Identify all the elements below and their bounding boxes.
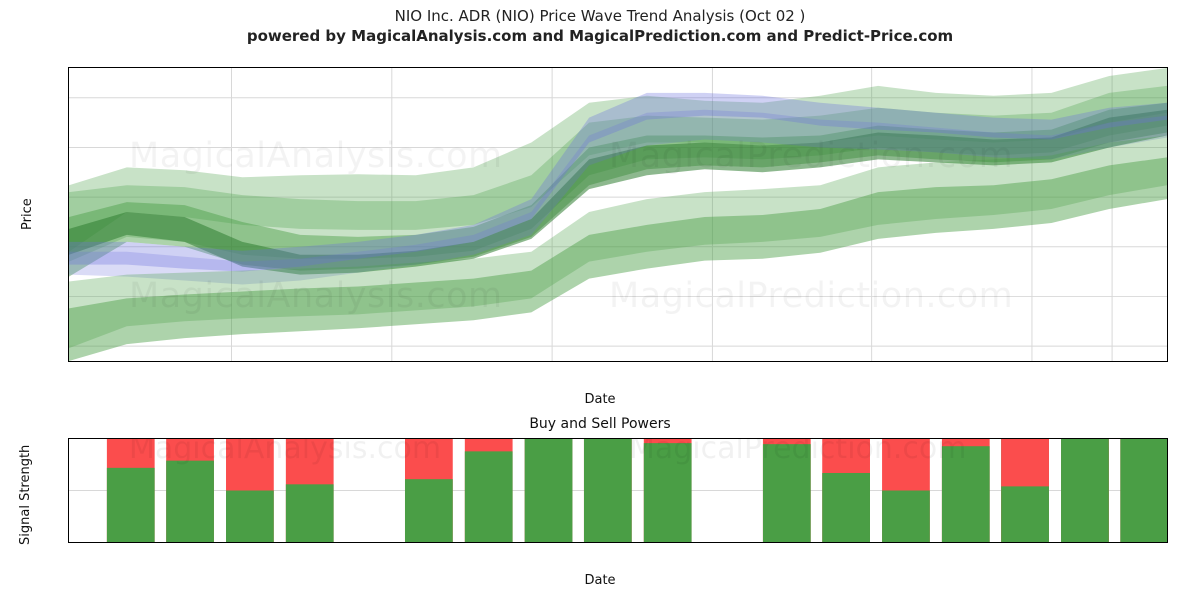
screenshot-root: NIO Inc. ADR (NIO) Price Wave Trend Anal… [0,0,1200,600]
chart-title-block: NIO Inc. ADR (NIO) Price Wave Trend Anal… [0,6,1200,46]
buy-power-bar [1001,486,1049,542]
buy-power-bar [942,446,990,542]
buy-power-bar [286,484,334,542]
signal-xtick-mark [1113,542,1114,543]
page-title: NIO Inc. ADR (NIO) Price Wave Trend Anal… [0,6,1200,26]
price-ytick-mark [68,97,69,98]
price-axis-label: Price [20,198,35,230]
price-ytick-mark [68,147,69,148]
price-xtick-mark [872,361,873,362]
buy-sell-bars [69,439,1167,542]
buy-power-bar [584,439,632,542]
signal-xtick-mark [713,542,714,543]
price-xtick-mark [713,361,714,362]
price-xtick-mark [1113,361,1114,362]
signal-xtick-mark [552,542,553,543]
buy-power-bar [763,444,811,542]
buy-power-bar [1061,439,1109,542]
signal-xtick-mark [1033,542,1034,543]
lower-date-axis-label: Date [584,573,615,588]
buy-power-bar [1120,439,1167,542]
signal-xtick-mark [872,542,873,543]
price-ytick-mark [68,347,69,348]
buy-power-bar [226,491,274,543]
signal-ytick-mark [68,438,69,439]
buy-power-bar [822,473,870,542]
signal-ytick-mark [68,491,69,492]
price-xtick-mark [231,361,232,362]
price-xtick-mark [1033,361,1034,362]
buy-power-bar [107,468,155,542]
buy-power-bar [644,443,692,542]
price-ytick-mark [68,247,69,248]
price-ytick-mark [68,197,69,198]
upper-date-axis-label: Date [584,392,615,407]
price-xtick-mark [552,361,553,362]
signal-xtick-mark [231,542,232,543]
signal-strength-axis-label: Signal Strength [18,445,33,545]
buy-power-bar [525,439,573,542]
price-wave-chart: MagicalAnalysis.com MagicalPrediction.co… [68,67,1168,362]
buy-sell-chart: MagicalAnalysis.com MagicalPrediction.co… [68,438,1168,543]
buy-power-bar [405,479,453,542]
page-subtitle: powered by MagicalAnalysis.com and Magic… [0,26,1200,46]
signal-xtick-mark [392,542,393,543]
buy-sell-title: Buy and Sell Powers [0,416,1200,432]
price-xtick-mark [392,361,393,362]
buy-power-bar [882,491,930,543]
buy-power-bar [465,451,513,542]
price-ytick-mark [68,297,69,298]
buy-power-bar [166,461,214,542]
price-wave-bands [69,68,1167,361]
